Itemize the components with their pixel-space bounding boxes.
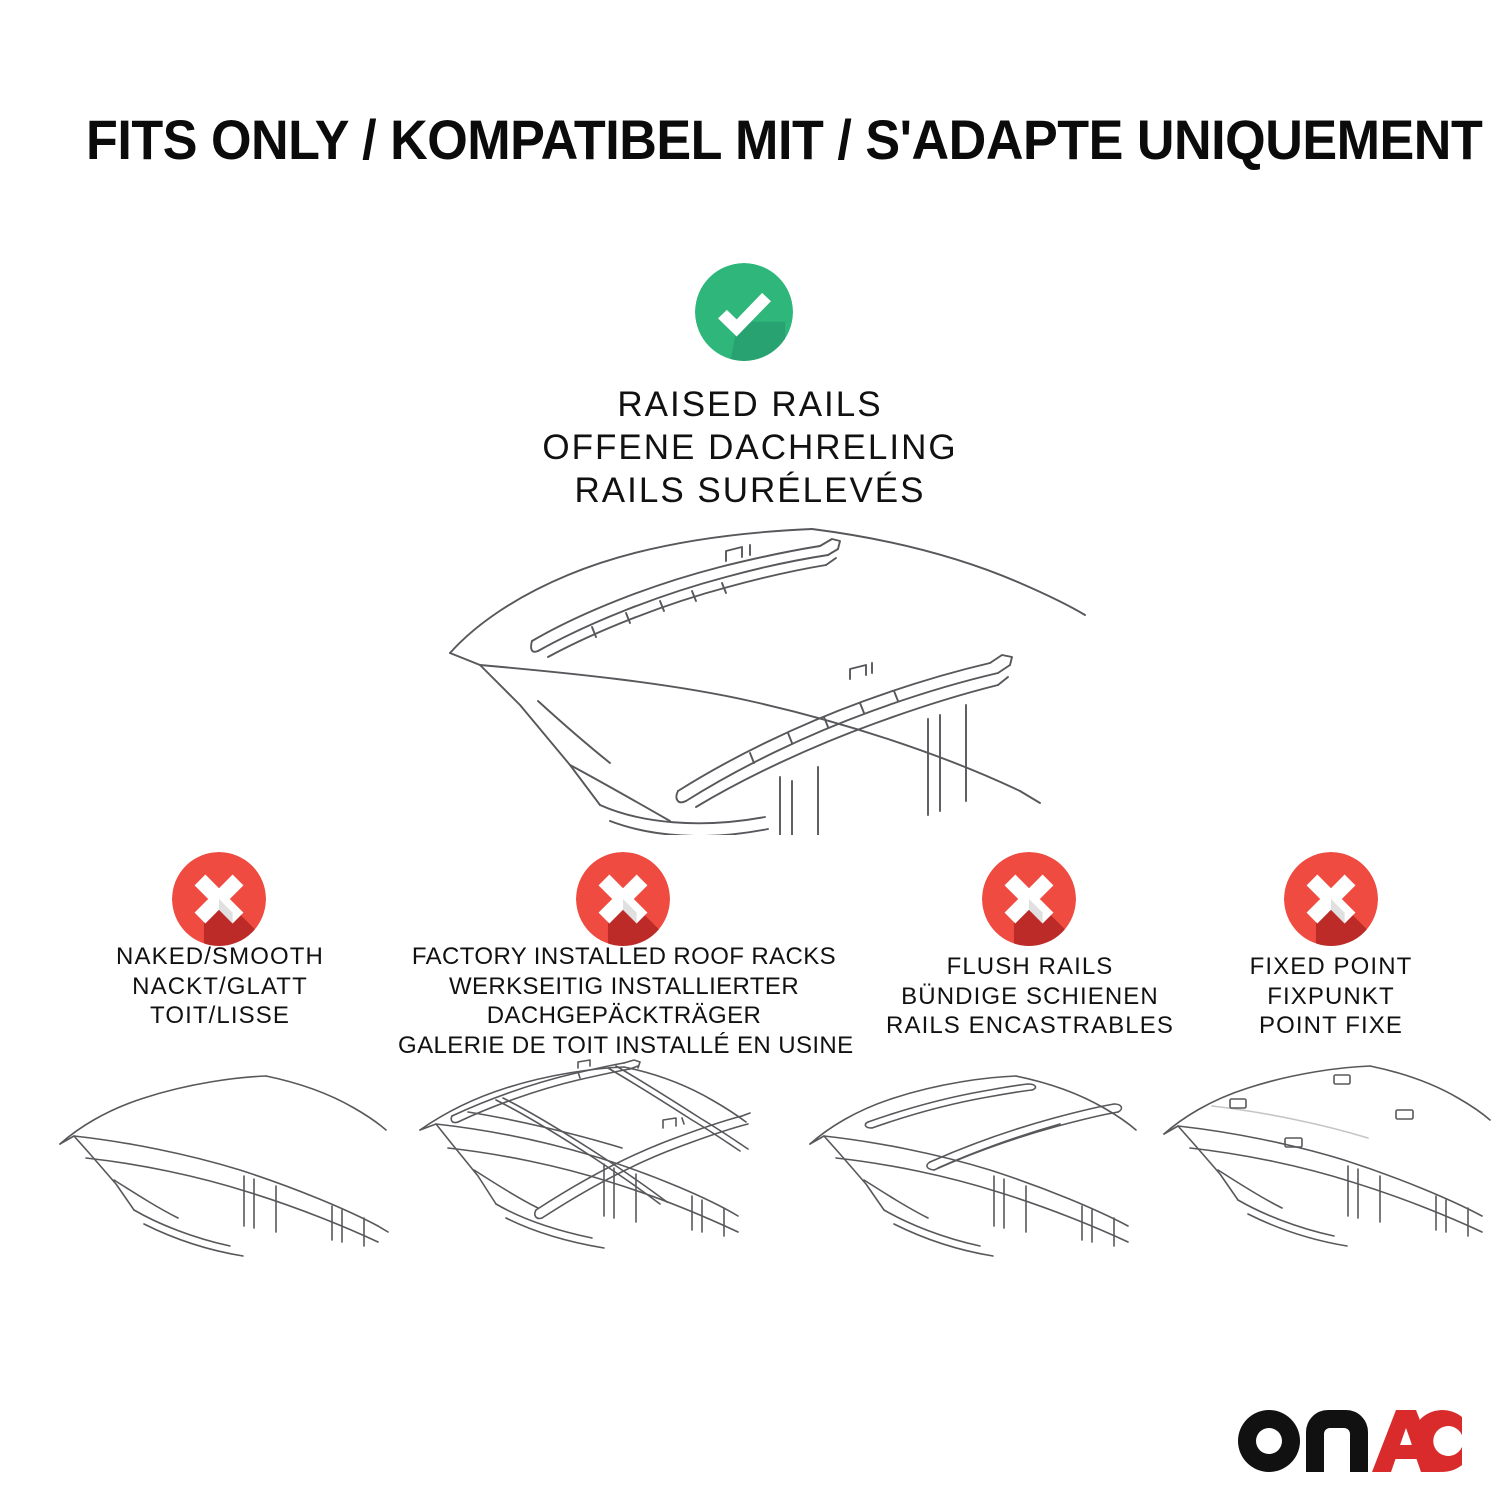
page-title: FITS ONLY / KOMPATIBEL MIT / S'ADAPTE UN… [86,108,1332,172]
caption-line: FIXPUNKT [1150,982,1500,1012]
omac-logo: OMAC [1236,1408,1462,1474]
caption-line: OFFENE DACHRELING [350,426,1150,469]
caption-line: NAKED/SMOOTH [20,942,420,972]
incompatible-caption-1: NAKED/SMOOTH NACKT/GLATT TOIT/LISSE [20,942,420,1031]
incompatible-caption-4: FIXED POINT FIXPUNKT POINT FIXE [1150,952,1500,1041]
caption-line: FACTORY INSTALLED ROOF RACKS [398,942,850,972]
compatible-caption: RAISED RAILS OFFENE DACHRELING RAILS SUR… [350,383,1150,512]
caption-line: TOIT/LISSE [20,1001,420,1031]
car-roof-raised-rails-illustration [420,505,1110,835]
x-circle-icon [982,852,1076,946]
caption-line: POINT FIXE [1150,1011,1500,1041]
car-roof-fixed-point-illustration [1152,1058,1500,1286]
x-circle-icon [576,852,670,946]
car-roof-flush-rails-illustration [798,1058,1146,1286]
caption-line: GALERIE DE TOIT INSTALLÉ EN USINE [398,1031,850,1061]
caption-line: FIXED POINT [1150,952,1500,982]
car-roof-naked-smooth-illustration [48,1058,396,1286]
caption-line: DACHGEPÄCKTRÄGER [398,1001,850,1031]
check-circle-icon [695,263,793,361]
incompatible-caption-2: FACTORY INSTALLED ROOF RACKS WERKSEITIG … [398,942,850,1060]
x-circle-icon [172,852,266,946]
caption-line: RAISED RAILS [350,383,1150,426]
car-roof-factory-roof-racks-illustration [408,1058,756,1286]
caption-line: NACKT/GLATT [20,972,420,1002]
x-circle-icon [1284,852,1378,946]
caption-line: WERKSEITIG INSTALLIERTER [398,972,850,1002]
